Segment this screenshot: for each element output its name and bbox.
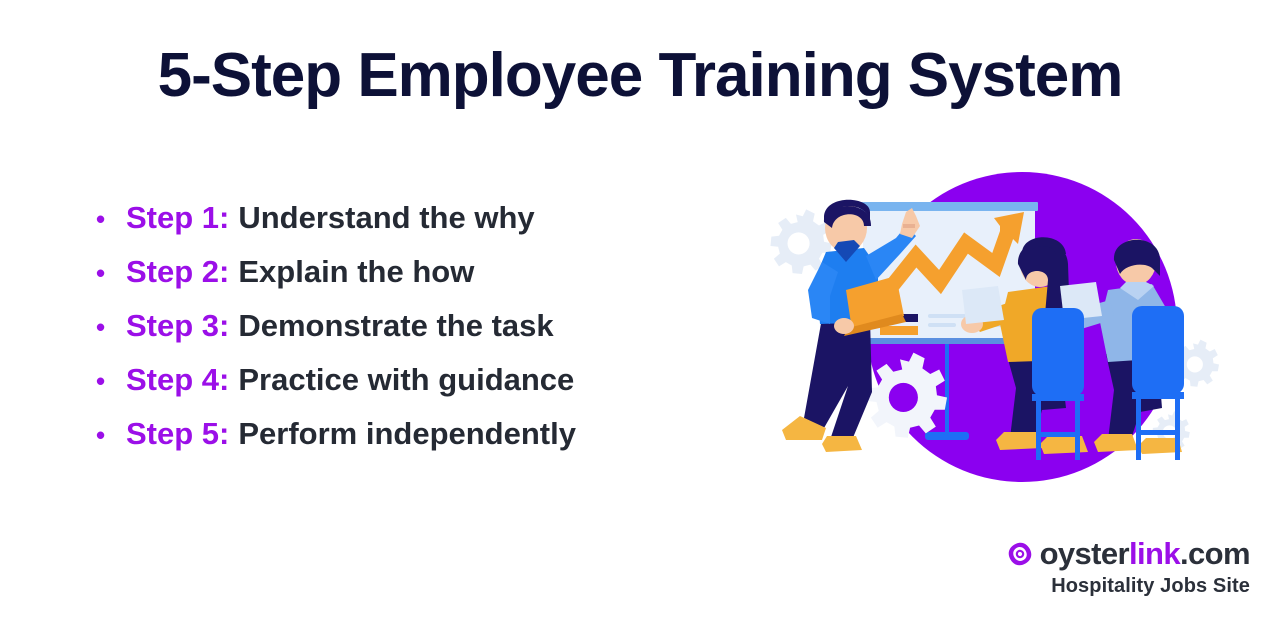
brand-logo[interactable]: oysterlink.com Hospitality Jobs Site — [960, 536, 1250, 598]
logo-tagline: Hospitality Jobs Site — [960, 575, 1250, 598]
page-title: 5-Step Employee Training System — [0, 40, 1280, 111]
step-label: Step 5: — [126, 416, 229, 452]
list-item: • Step 1: Understand the why — [96, 200, 736, 254]
list-item: • Step 3: Demonstrate the task — [96, 308, 736, 362]
steps-list: • Step 1: Understand the why • Step 2: E… — [96, 200, 736, 470]
step-text: Practice with guidance — [238, 362, 574, 398]
bullet-icon: • — [96, 422, 126, 448]
step-text: Understand the why — [238, 200, 534, 236]
oyster-pearl-mark-icon — [1007, 541, 1033, 567]
step-text: Perform independently — [238, 416, 576, 452]
training-presentation-illustration — [760, 140, 1240, 500]
logo-wordmark: oysterlink.com — [1040, 536, 1250, 572]
step-label: Step 4: — [126, 362, 229, 398]
step-text: Demonstrate the task — [238, 308, 553, 344]
bullet-icon: • — [96, 368, 126, 394]
bullet-icon: • — [96, 206, 126, 232]
list-item: • Step 4: Practice with guidance — [96, 362, 736, 416]
logo-word-com: .com — [1180, 536, 1250, 571]
bullet-icon: • — [96, 314, 126, 340]
step-label: Step 1: — [126, 200, 229, 236]
step-label: Step 2: — [126, 254, 229, 290]
bullet-icon: • — [96, 260, 126, 286]
logo-word-link: link — [1129, 536, 1180, 571]
list-item: • Step 5: Perform independently — [96, 416, 736, 470]
logo-word-oyster: oyster — [1040, 536, 1129, 571]
step-label: Step 3: — [126, 308, 229, 344]
step-text: Explain the how — [238, 254, 474, 290]
logo-row: oysterlink.com — [960, 536, 1250, 572]
list-item: • Step 2: Explain the how — [96, 254, 736, 308]
